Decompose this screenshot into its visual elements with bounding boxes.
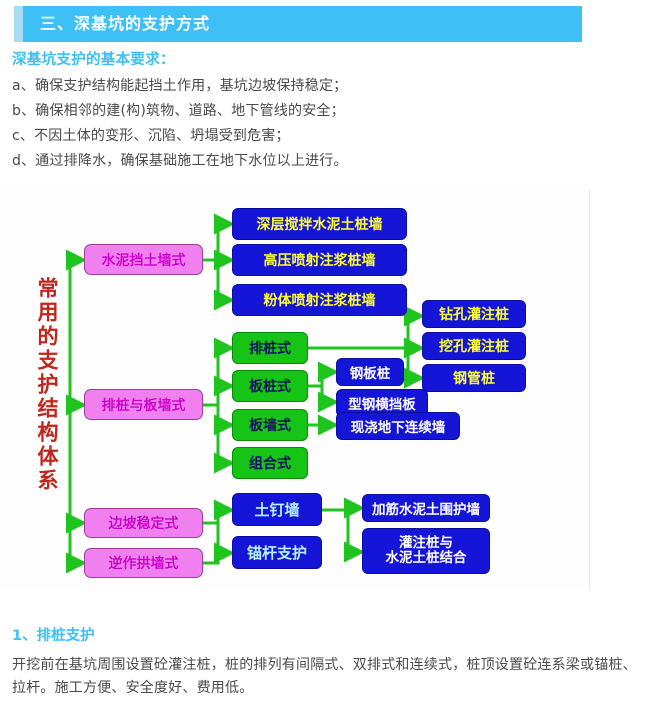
node-line-1: 灌注桩与 — [399, 536, 453, 551]
diagram-root-title: 常用的支护结构体系 — [30, 220, 64, 550]
node-pile-and-slab-wall[interactable]: 排桩与板墙式 — [84, 389, 203, 420]
node-soil-nailing-wall[interactable]: 土钉墙 — [232, 493, 322, 526]
footer-body: 开挖前在基坑周围设置砼灌注桩，桩的排列有间隔式、双排式和连续式，桩顶设置砼连系梁… — [12, 654, 637, 700]
intro-item-c: c、不因土体的变形、沉陷、坍塌受到危害； — [12, 128, 632, 145]
support-structure-diagram: 常用的支护结构体系 水泥挡土墙式 排桩与板墙式 边坡稳定式 逆作拱墙式 深层搅拌… — [0, 190, 590, 590]
node-bored-cast-in-place-pile[interactable]: 钻孔灌注桩 — [422, 300, 526, 328]
node-sheet-pile-type[interactable]: 板桩式 — [232, 370, 308, 402]
node-steel-sheet-pile[interactable]: 钢板桩 — [336, 358, 404, 386]
node-cast-in-situ-diaphragm-wall[interactable]: 现浇地下连续墙 — [336, 412, 460, 440]
node-slope-stability[interactable]: 边坡稳定式 — [84, 508, 203, 538]
node-cement-retaining-wall[interactable]: 水泥挡土墙式 — [84, 244, 203, 275]
node-composite-type[interactable]: 组合式 — [232, 447, 308, 479]
intro-item-d: d、通过排降水，确保基础施工在地下水位以上进行。 — [12, 153, 632, 170]
node-steel-pipe-pile[interactable]: 钢管桩 — [422, 364, 526, 392]
node-anchor-support[interactable]: 锚杆支护 — [232, 536, 322, 569]
node-reinforced-cement-soil-retaining-wall[interactable]: 加筋水泥土围护墙 — [362, 494, 490, 522]
intro-heading: 深基坑支护的基本要求： — [12, 48, 632, 69]
node-dug-cast-in-place-pile[interactable]: 挖孔灌注桩 — [422, 332, 526, 360]
node-row-pile-type[interactable]: 排桩式 — [232, 332, 308, 364]
node-line-2: 水泥土桩结合 — [386, 551, 467, 566]
footer-block: 1、排桩支护 开挖前在基坑周围设置砼灌注桩，桩的排列有间隔式、双排式和连续式，桩… — [12, 624, 637, 700]
node-high-pressure-jet-grouting-pile-wall[interactable]: 高压喷射注浆桩墙 — [232, 244, 407, 276]
node-slab-wall-type[interactable]: 板墙式 — [232, 409, 308, 441]
page-title: 三、深基坑的支护方式 — [23, 6, 210, 42]
node-cast-pile-with-cement-soil-pile[interactable]: 灌注桩与 水泥土桩结合 — [362, 528, 490, 574]
intro-item-b: b、确保相邻的建(构)筑物、道路、地下管线的安全； — [12, 103, 632, 120]
footer-heading: 1、排桩支护 — [12, 624, 637, 645]
intro-item-a: a、确保支护结构能起挡土作用，基坑边坡保持稳定； — [12, 78, 632, 95]
node-deep-mixing-cement-pile-wall[interactable]: 深层搅拌水泥土桩墙 — [232, 208, 407, 240]
node-reverse-arch-wall[interactable]: 逆作拱墙式 — [84, 548, 203, 578]
node-powder-jet-grouting-pile-wall[interactable]: 粉体喷射注浆桩墙 — [232, 284, 407, 316]
header-accent-bar — [14, 6, 23, 42]
intro-block: 深基坑支护的基本要求： a、确保支护结构能起挡土作用，基坑边坡保持稳定； b、确… — [12, 48, 632, 178]
section-header: 三、深基坑的支护方式 — [14, 6, 582, 42]
